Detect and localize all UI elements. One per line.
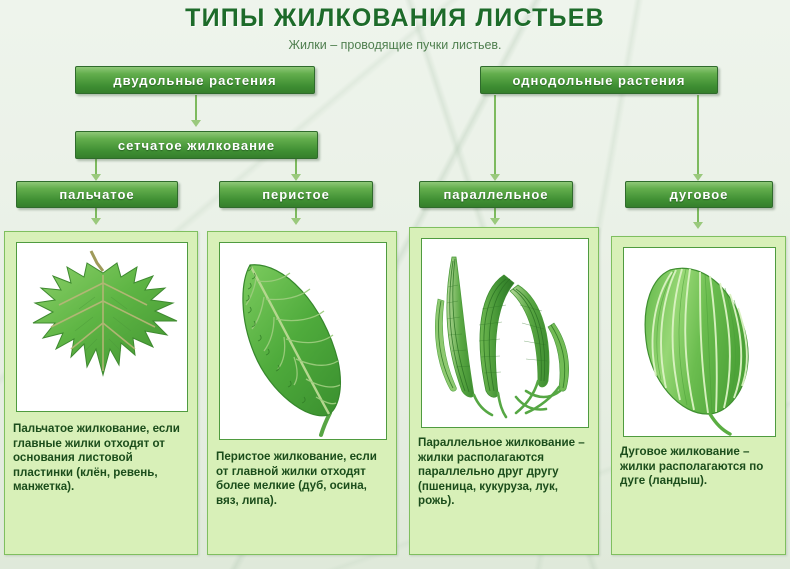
arcuate-image-frame bbox=[623, 247, 776, 437]
panel-palmate-caption: Пальчатое жилкование, если главные жилки… bbox=[13, 422, 191, 495]
panel-pinnate-caption: Перистое жилкование, если от главной жил… bbox=[216, 450, 390, 508]
box-dicot-plants[interactable]: двудольные растения bbox=[75, 66, 315, 94]
box-type-parallel[interactable]: параллельное bbox=[419, 181, 573, 208]
box-type-arcuate[interactable]: дуговое bbox=[625, 181, 773, 208]
panel-parallel: Параллельное жилкование – жилки располаг… bbox=[409, 227, 599, 555]
connector-dicot-vertical bbox=[195, 95, 197, 122]
panel-pinnate: Перистое жилкование, если от главной жил… bbox=[207, 231, 397, 555]
box-type-pinnate-label: перистое bbox=[262, 187, 330, 202]
page-subtitle: Жилки – проводящие пучки листьев. bbox=[0, 38, 790, 52]
panel-arcuate-caption: Дуговое жилкование – жилки располагаются… bbox=[620, 445, 779, 489]
panel-parallel-caption: Параллельное жилкование – жилки располаг… bbox=[418, 436, 592, 509]
panel-arcuate: Дуговое жилкование – жилки располагаются… bbox=[611, 236, 786, 555]
arrow-palmate-panel bbox=[91, 218, 101, 225]
pinnate-image-frame bbox=[219, 242, 387, 440]
lily-of-the-valley-leaf-illustration bbox=[624, 248, 776, 437]
maple-leaf-illustration bbox=[17, 243, 188, 412]
palmate-image-frame bbox=[16, 242, 188, 412]
arrow-parallel-panel bbox=[490, 218, 500, 225]
arrow-pinnate-panel bbox=[291, 218, 301, 225]
panel-palmate: Пальчатое жилкование, если главные жилки… bbox=[4, 231, 198, 555]
box-type-pinnate[interactable]: перистое bbox=[219, 181, 373, 208]
box-type-arcuate-label: дуговое bbox=[670, 187, 729, 202]
box-type-palmate-label: пальчатое bbox=[59, 187, 134, 202]
box-type-palmate[interactable]: пальчатое bbox=[16, 181, 178, 208]
arrow-reticulate-to-pinnate bbox=[291, 174, 301, 181]
box-reticulate-venation[interactable]: сетчатое жилкование bbox=[75, 131, 318, 159]
arrow-dicot-to-reticulate bbox=[191, 120, 201, 127]
connector-monocot-right bbox=[697, 95, 699, 177]
connector-monocot-left bbox=[494, 95, 496, 177]
elm-leaf-illustration bbox=[220, 243, 387, 440]
box-dicot-plants-label: двудольные растения bbox=[113, 73, 276, 88]
arrow-monocot-to-arcuate bbox=[693, 174, 703, 181]
box-reticulate-venation-label: сетчатое жилкование bbox=[118, 138, 275, 153]
arrow-reticulate-to-palmate bbox=[91, 174, 101, 181]
poster-root: ТИПЫ ЖИЛКОВАНИЯ ЛИСТЬЕВ Жилки – проводящ… bbox=[0, 0, 790, 569]
box-monocot-plants-label: однодольные растения bbox=[513, 73, 686, 88]
page-title: ТИПЫ ЖИЛКОВАНИЯ ЛИСТЬЕВ bbox=[0, 4, 790, 33]
grass-plant-illustration bbox=[422, 239, 589, 428]
arrow-arcuate-panel bbox=[693, 222, 703, 229]
arrow-monocot-to-parallel bbox=[490, 174, 500, 181]
box-type-parallel-label: параллельное bbox=[443, 187, 548, 202]
box-monocot-plants[interactable]: однодольные растения bbox=[480, 66, 718, 94]
parallel-image-frame bbox=[421, 238, 589, 428]
